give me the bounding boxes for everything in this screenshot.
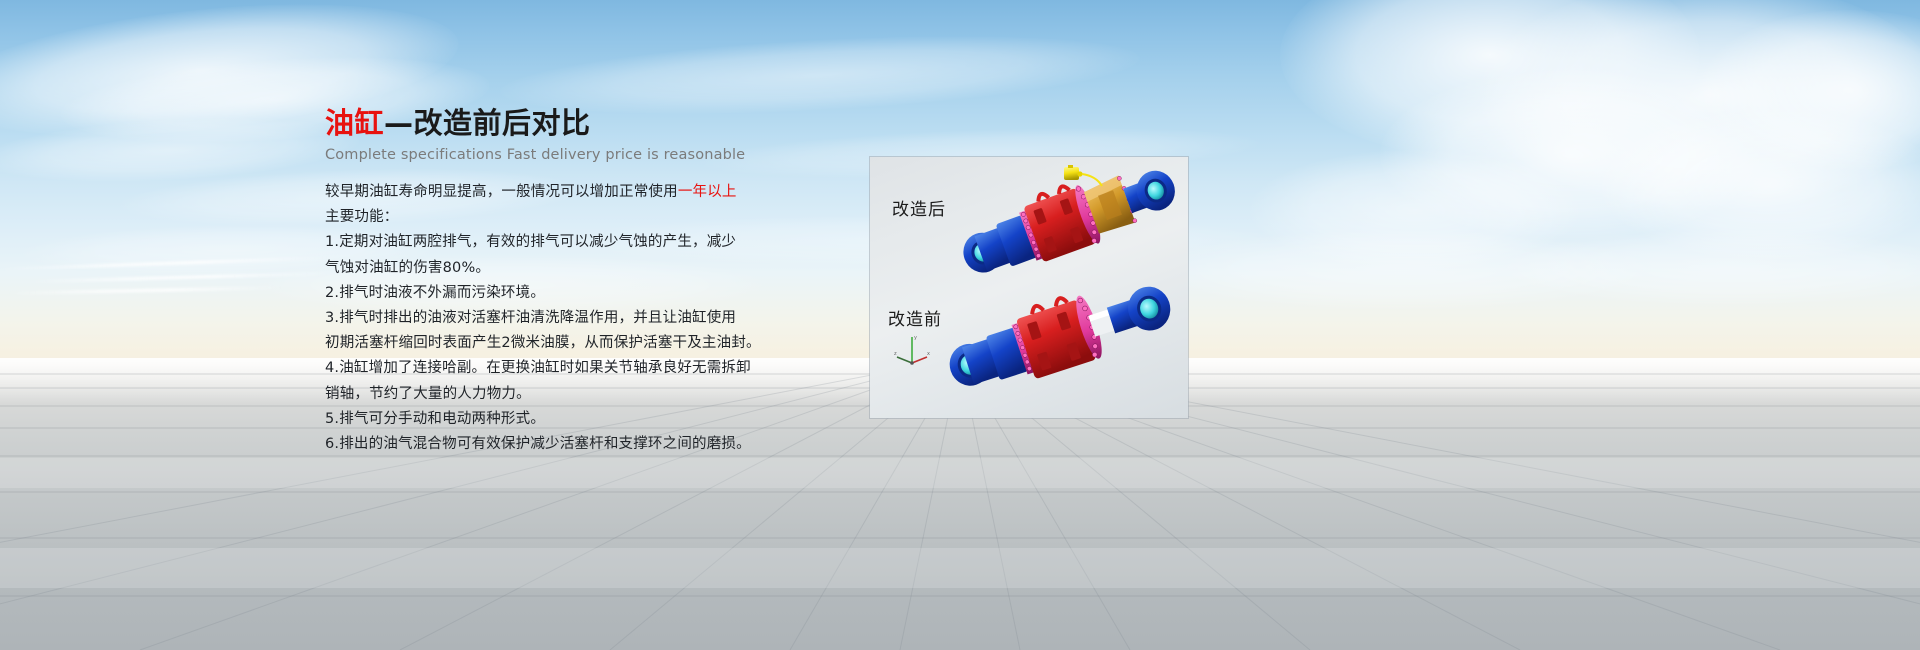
feature-text: 主要功能： (325, 209, 399, 225)
feature-list: 较早期油缸寿命明显提高，一般情况可以增加正常使用一年以上 主要功能： 1.定期对… (325, 180, 865, 457)
feature-text: 初期活塞杆缩回时表面产生2微米油膜，从而保护活塞干及主油封。 (325, 335, 761, 351)
page-title: 油缸—改造前后对比 (325, 104, 865, 142)
label-before-modification: 改造前 (888, 305, 942, 330)
feature-text: 2.排气时油液不外漏而污染环境。 (325, 285, 545, 301)
page-title-rest: —改造前后对比 (384, 106, 591, 140)
feature-line: 2.排气时油液不外漏而污染环境。 (325, 281, 865, 306)
feature-line: 1.定期对油缸两腔排气，有效的排气可以减少气蚀的产生，减少 (325, 230, 865, 255)
coordinate-axis-triad: y x z (894, 333, 930, 367)
feature-line: 较早期油缸寿命明显提高，一般情况可以增加正常使用一年以上 (325, 180, 865, 205)
feature-text: 4.油缸增加了连接哈副。在更换油缸时如果关节轴承良好无需拆卸 (325, 360, 751, 376)
feature-text: 销轴，节约了大量的人力物力。 (325, 386, 531, 402)
feature-text: 3.排气时排出的油液对活塞杆油清洗降温作用，并且让油缸使用 (325, 310, 736, 326)
promo-banner: 油缸—改造前后对比 Complete specifications Fast d… (0, 0, 1920, 650)
svg-text:z: z (894, 351, 897, 357)
feature-line: 气蚀对油缸的伤害80%。 (325, 256, 865, 281)
feature-line: 6.排出的油气混合物可有效保护减少活塞杆和支撑环之间的磨损。 (325, 432, 865, 457)
feature-text: 较早期油缸寿命明显提高，一般情况可以增加正常使用 (325, 184, 678, 200)
page-title-accent: 油缸 (325, 106, 384, 140)
feature-line: 销轴，节约了大量的人力物力。 (325, 382, 865, 407)
svg-text:x: x (927, 351, 930, 357)
feature-line: 3.排气时排出的油液对活塞杆油清洗降温作用，并且让油缸使用 (325, 306, 865, 331)
hydraulic-cylinder-after-render (956, 165, 1184, 283)
svg-text:y: y (914, 335, 917, 341)
promo-text-block: 油缸—改造前后对比 Complete specifications Fast d… (325, 104, 865, 457)
contrail-streak (10, 286, 280, 295)
page-subtitle: Complete specifications Fast delivery pr… (325, 147, 865, 163)
feature-highlight: 一年以上 (678, 184, 737, 200)
feature-line: 4.油缸增加了连接哈副。在更换油缸时如果关节轴承良好无需拆卸 (325, 356, 865, 381)
vent-valve-icon (1064, 165, 1102, 186)
feature-text: 1.定期对油缸两腔排气，有效的排气可以减少气蚀的产生，减少 (325, 234, 736, 250)
hydraulic-cylinder-before-render (942, 273, 1182, 403)
product-comparison-panel: 改造后 改造前 y x z (870, 157, 1188, 418)
label-after-modification: 改造后 (892, 195, 946, 220)
feature-line: 主要功能： (325, 205, 865, 230)
feature-line: 5.排气可分手动和电动两种形式。 (325, 407, 865, 432)
feature-text: 6.排出的油气混合物可有效保护减少活塞杆和支撑环之间的磨损。 (325, 436, 751, 452)
feature-line: 初期活塞杆缩回时表面产生2微米油膜，从而保护活塞干及主油封。 (325, 331, 865, 356)
feature-text: 5.排气可分手动和电动两种形式。 (325, 411, 545, 427)
feature-text: 气蚀对油缸的伤害80%。 (325, 260, 490, 276)
